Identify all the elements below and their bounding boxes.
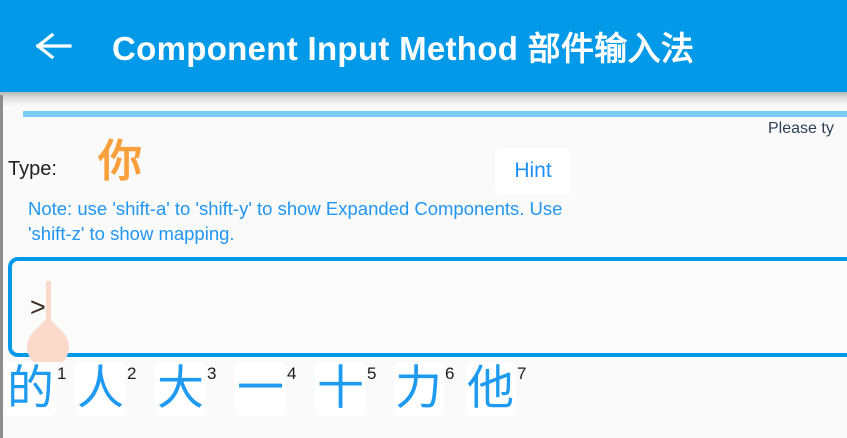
candidate-character: 人 — [75, 362, 126, 416]
please-type-label: Please ty — [768, 120, 834, 138]
candidate-item[interactable]: 他7 — [465, 362, 526, 416]
candidate-character: 十 — [315, 362, 366, 416]
appbar-shadow — [0, 92, 847, 106]
candidate-index: 1 — [57, 364, 66, 384]
candidate-index: 3 — [207, 364, 216, 384]
instructions-note: Note: use 'shift-a' to 'shift-y' to show… — [28, 196, 588, 246]
candidate-item[interactable]: 力6 — [393, 362, 454, 416]
composition-input[interactable]: > — [8, 257, 847, 357]
candidate-item[interactable]: 的1 — [5, 362, 66, 416]
candidate-index: 2 — [127, 364, 136, 384]
candidate-item[interactable]: 人2 — [75, 362, 136, 416]
candidate-index: 5 — [367, 364, 376, 384]
candidate-item[interactable]: 一4 — [235, 362, 296, 416]
hint-button[interactable]: Hint — [495, 148, 571, 194]
candidate-item[interactable]: 大3 — [155, 362, 216, 416]
target-character: 你 — [98, 140, 142, 184]
candidate-character: 的 — [5, 362, 56, 416]
type-label: Type: — [8, 158, 57, 181]
page-title: Component Input Method 部件输入法 — [112, 22, 694, 70]
input-value: > — [30, 292, 46, 323]
divider-rule — [23, 111, 847, 117]
candidate-item[interactable]: 十5 — [315, 362, 376, 416]
candidate-index: 4 — [287, 364, 296, 384]
candidate-character: 力 — [393, 362, 444, 416]
app-bar: Component Input Method 部件输入法 — [0, 0, 847, 92]
candidate-character: 大 — [155, 362, 206, 416]
candidate-index: 6 — [445, 364, 454, 384]
candidate-character: 他 — [465, 362, 516, 416]
candidate-index: 7 — [517, 364, 526, 384]
candidate-bar: 的1人2大3一4十5力6他7 — [0, 362, 847, 438]
back-arrow-icon[interactable] — [28, 20, 80, 72]
candidate-character: 一 — [235, 362, 286, 416]
app-screen: Component Input Method 部件输入法 Please ty T… — [0, 0, 847, 438]
